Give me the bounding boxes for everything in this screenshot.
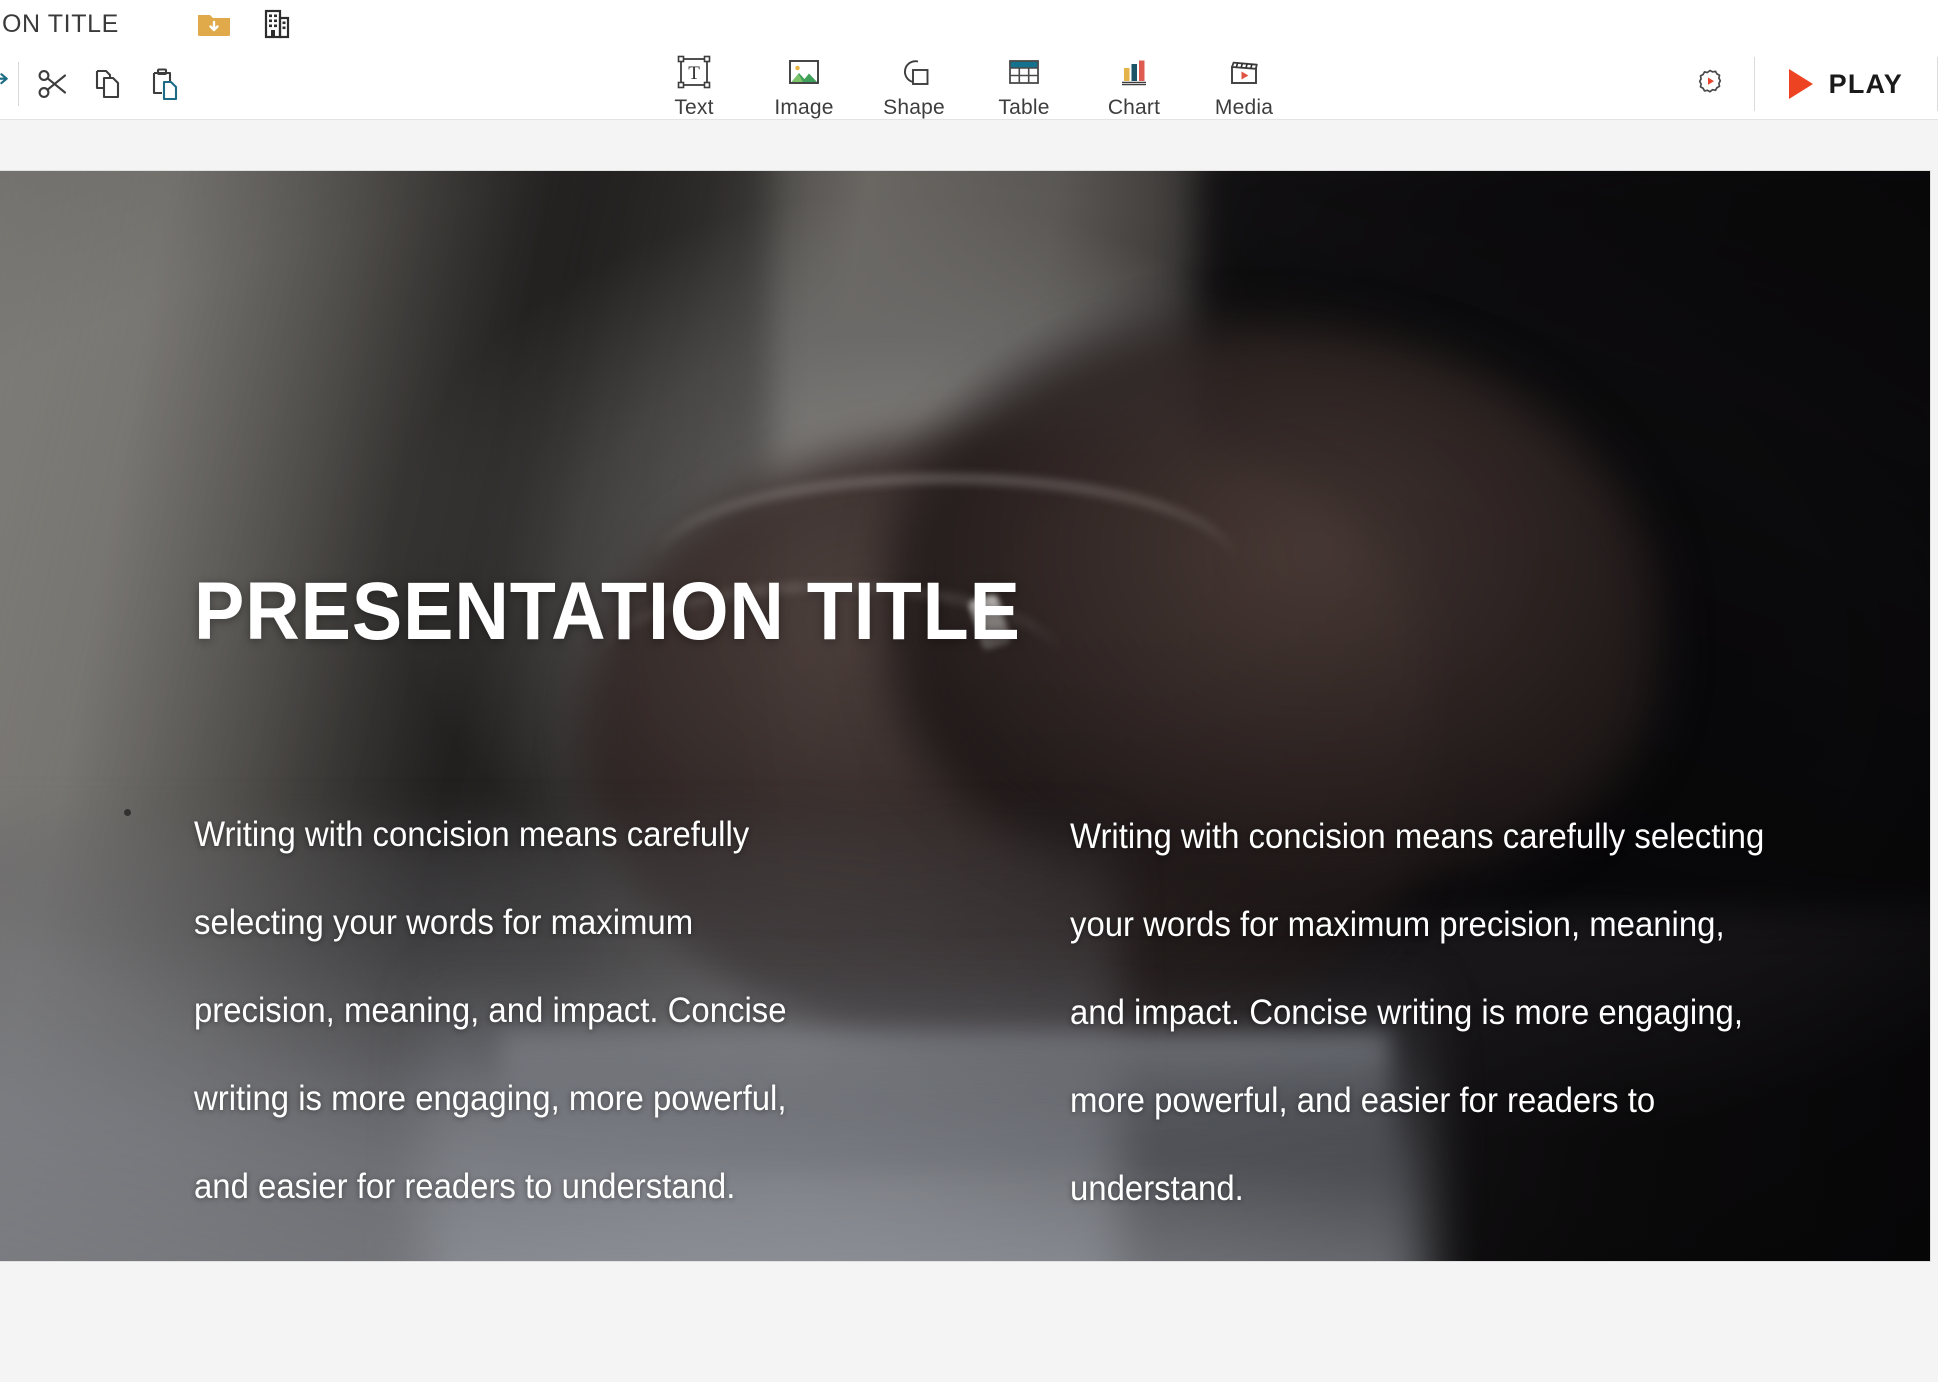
bullet-point-marker xyxy=(124,809,131,816)
company-building-icon[interactable] xyxy=(261,9,291,39)
insert-shape-tool[interactable]: Shape xyxy=(859,48,969,120)
play-triangle-icon xyxy=(1789,69,1813,99)
shape-icon xyxy=(894,52,934,92)
insert-text-label: Text xyxy=(674,96,713,120)
insert-chart-tool[interactable]: Chart xyxy=(1079,48,1189,120)
svg-text:T: T xyxy=(688,63,700,84)
media-clapperboard-icon xyxy=(1224,52,1264,92)
text-box-icon: T xyxy=(674,52,714,92)
save-to-folder-icon[interactable] xyxy=(197,10,231,38)
insert-shape-label: Shape xyxy=(883,96,945,120)
play-button[interactable]: PLAY xyxy=(1773,69,1919,100)
insert-table-label: Table xyxy=(998,96,1049,120)
main-toolbar: T Text Image S xyxy=(0,48,1938,120)
play-button-label: PLAY xyxy=(1829,69,1903,100)
title-bar: ON TITLE xyxy=(0,0,1938,48)
insert-tool-group: T Text Image S xyxy=(639,48,1299,120)
toolbar-vertical-separator xyxy=(1754,57,1755,111)
body-text-right[interactable]: Writing with concision means carefully s… xyxy=(1070,793,1784,1233)
clipboard-action-group xyxy=(0,48,193,120)
table-icon xyxy=(1004,52,1044,92)
presentation-settings-button[interactable] xyxy=(1684,56,1736,112)
chart-icon xyxy=(1114,52,1154,92)
toolbar-right-group: PLAY xyxy=(1684,48,1938,120)
insert-text-tool[interactable]: T Text xyxy=(639,48,749,120)
toolbar-divider xyxy=(18,62,19,106)
slide-content-layer: PRESENTATION TITLE Writing with concisio… xyxy=(0,171,1930,1261)
insert-chart-label: Chart xyxy=(1108,96,1160,120)
image-icon xyxy=(784,52,824,92)
copy-button[interactable] xyxy=(81,56,137,112)
paste-button[interactable] xyxy=(137,56,193,112)
redo-button[interactable] xyxy=(0,56,12,112)
document-title[interactable]: ON TITLE xyxy=(0,10,119,39)
insert-image-tool[interactable]: Image xyxy=(749,48,859,120)
insert-media-tool[interactable]: Media xyxy=(1189,48,1299,120)
slide-canvas[interactable]: PRESENTATION TITLE Writing with concisio… xyxy=(0,171,1930,1261)
insert-image-label: Image xyxy=(774,96,833,120)
body-text-left[interactable]: Writing with concision means carefully s… xyxy=(194,791,796,1231)
cut-button[interactable] xyxy=(25,56,81,112)
insert-media-label: Media xyxy=(1215,96,1273,120)
insert-table-tool[interactable]: Table xyxy=(969,48,1079,120)
slide-title[interactable]: PRESENTATION TITLE xyxy=(194,571,1021,653)
title-bar-icon-group xyxy=(197,9,291,39)
